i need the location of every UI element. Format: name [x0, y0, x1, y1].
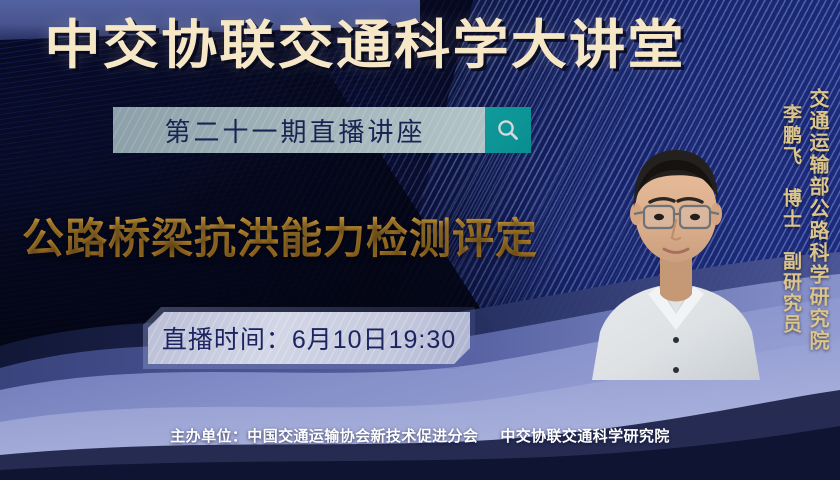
search-button[interactable] [485, 107, 531, 153]
lecture-title: 公路桥梁抗洪能力检测评定 [22, 205, 538, 266]
speaker-name-title: 李鹏飞 博士 副研究员 [777, 104, 804, 335]
page-title: 中交协联交通科学大讲堂 [0, 16, 752, 75]
speaker-organization: 交通运输部公路科学研究院 [803, 88, 832, 352]
episode-bar: 第二十一期直播讲座 [113, 107, 531, 153]
organizer-name-2: 中交协联交通科学研究院 [500, 428, 669, 445]
episode-label: 第二十一期直播讲座 [113, 107, 485, 153]
organizer-footer: 主办单位：中国交通运输协会新技术促进分会中交协联交通科学研究院 [0, 425, 840, 446]
speaker-portrait [592, 108, 760, 380]
organizer-name-1: 中国交通运输协会新技术促进分会 [247, 428, 478, 445]
live-lecture-poster: 中交协联交通科学大讲堂 第二十一期直播讲座 公路桥梁抗洪能力检测评定 直播时间：… [0, 0, 840, 480]
search-icon [495, 117, 521, 143]
organizer-prefix: 主办单位： [170, 428, 247, 445]
broadcast-time-badge: 直播时间：6月10日19:30 [148, 312, 470, 364]
